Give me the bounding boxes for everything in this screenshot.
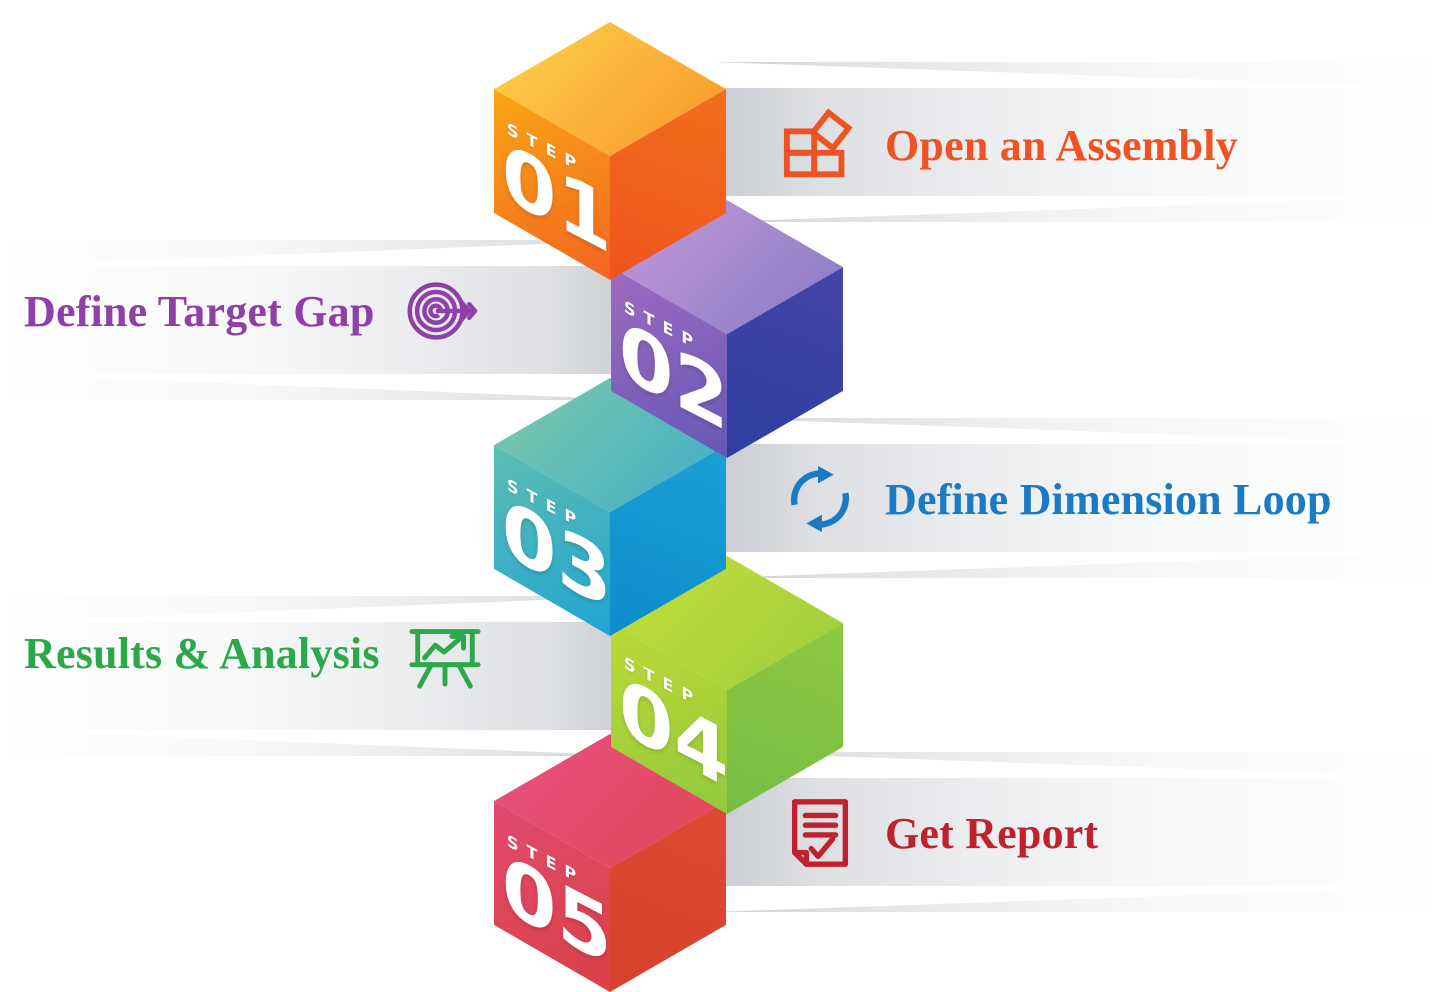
infographic-canvas: STEP 01 STEP 02 STEP 03 STEP 04 (0, 0, 1443, 970)
step-cube-01[interactable]: STEP 01 (494, 22, 726, 280)
row-label-define-dimension-loop[interactable]: Define Dimension Loop (781, 460, 1332, 538)
row-label-define-target-gap[interactable]: Define Target Gap (24, 272, 479, 350)
loop-icon (781, 460, 859, 538)
report-icon (781, 794, 859, 872)
chart-board-icon (406, 614, 484, 692)
row-title: Open an Assembly (885, 120, 1238, 171)
assembly-icon (781, 106, 859, 184)
row-label-results-and-analysis[interactable]: Results & Analysis (24, 614, 484, 692)
row-title: Results & Analysis (24, 628, 380, 679)
target-icon (401, 272, 479, 350)
row-label-open-an-assembly[interactable]: Open an Assembly (781, 106, 1238, 184)
row-title: Define Target Gap (24, 286, 375, 337)
row-title: Get Report (885, 808, 1098, 859)
row-label-get-report[interactable]: Get Report (781, 794, 1098, 872)
row-title: Define Dimension Loop (885, 474, 1332, 525)
